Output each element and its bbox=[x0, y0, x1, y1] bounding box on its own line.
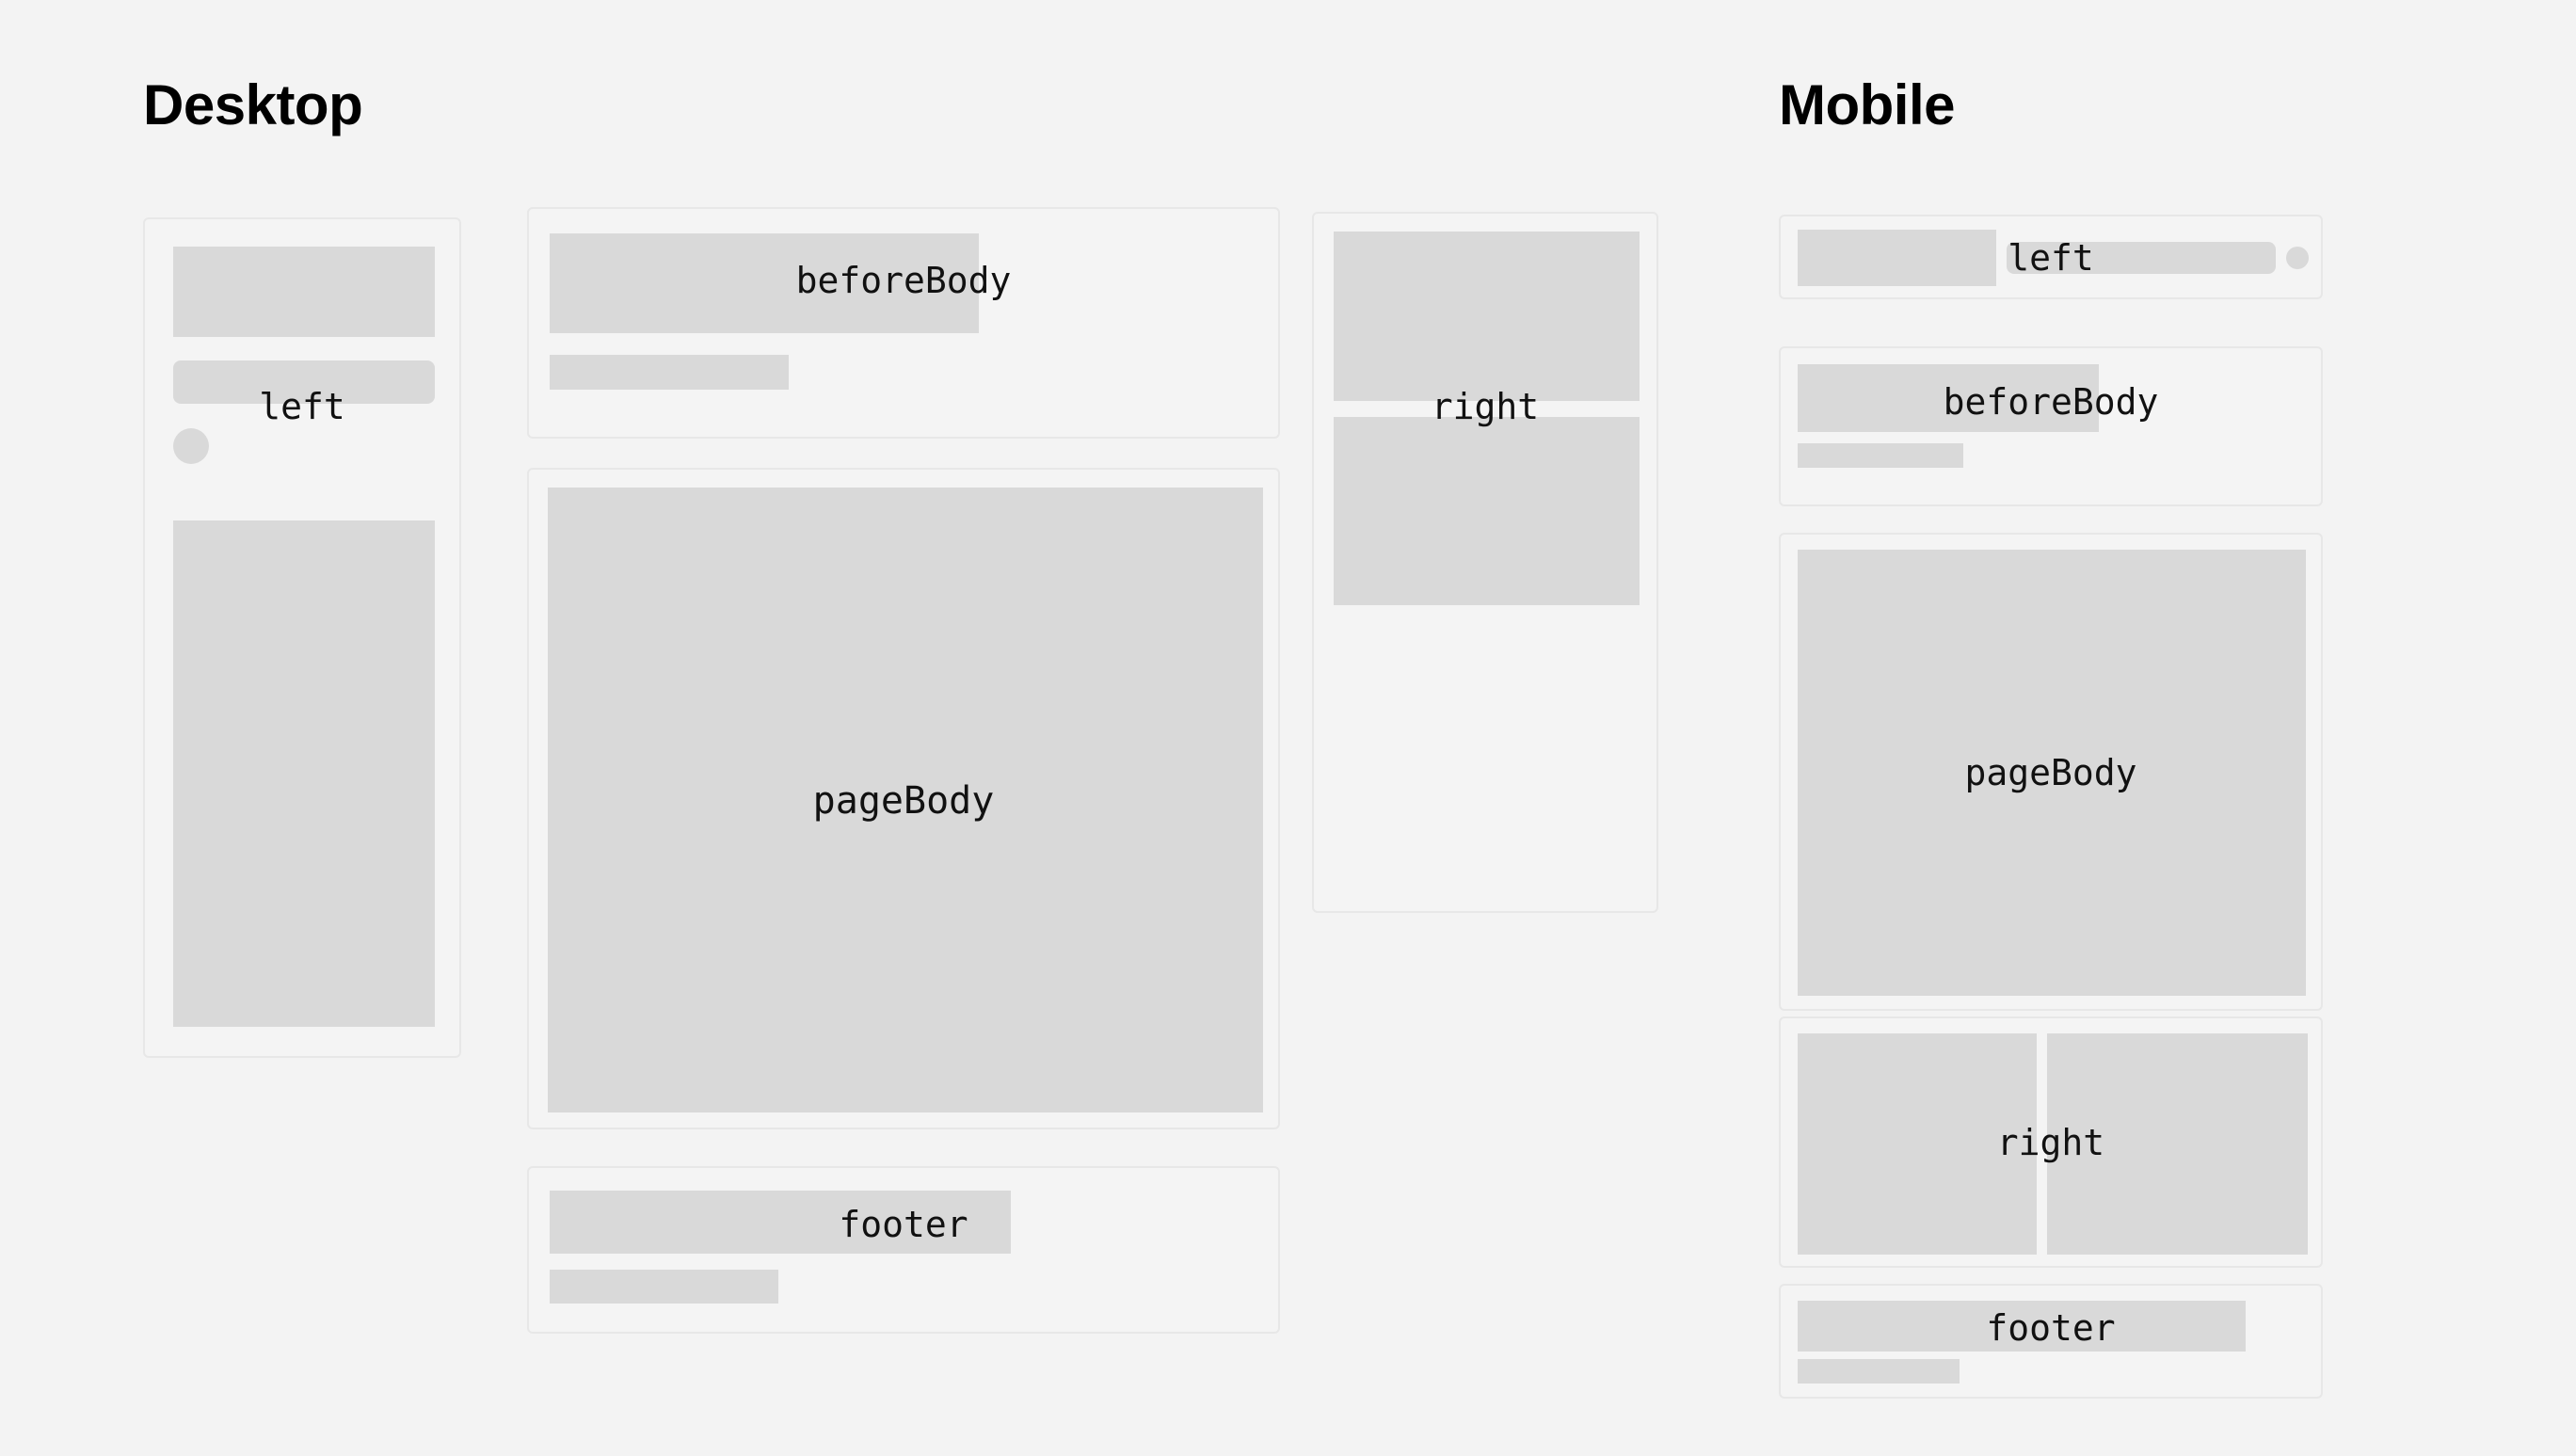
mobile-left-block bbox=[1798, 230, 1996, 286]
mobile-region-right[interactable]: right bbox=[1779, 1016, 2323, 1268]
pagebody-block bbox=[548, 488, 1263, 1112]
mobile-footer-block-wide bbox=[1798, 1301, 2246, 1352]
layout-preview-stage: Desktop left beforeBody pageBody footer … bbox=[0, 0, 2576, 1456]
sidebar-block-tall bbox=[173, 520, 435, 1027]
right-block-bottom bbox=[1334, 417, 1640, 605]
mobile-before-block-small bbox=[1798, 443, 1963, 468]
mobile-right-block-left bbox=[1798, 1033, 2037, 1255]
desktop-region-pagebody[interactable]: pageBody bbox=[527, 468, 1280, 1129]
mobile-region-pagebody[interactable]: pageBody bbox=[1779, 533, 2323, 1011]
desktop-region-left[interactable]: left bbox=[143, 217, 461, 1058]
before-block-small bbox=[550, 355, 789, 390]
mobile-region-beforebody[interactable]: beforeBody bbox=[1779, 346, 2323, 506]
mobile-before-block-wide bbox=[1798, 364, 2099, 432]
before-block-wide bbox=[550, 233, 979, 333]
mobile-left-pill bbox=[2007, 242, 2276, 274]
mobile-region-left[interactable]: left bbox=[1779, 215, 2323, 299]
desktop-region-footer[interactable]: footer bbox=[527, 1166, 1280, 1334]
mobile-right-block-right bbox=[2047, 1033, 2308, 1255]
sidebar-block-pill bbox=[173, 360, 435, 404]
mobile-section-title: Mobile bbox=[1779, 77, 1955, 134]
mobile-pagebody-block bbox=[1798, 550, 2306, 996]
sidebar-block-large bbox=[173, 247, 435, 337]
right-block-top bbox=[1334, 232, 1640, 401]
desktop-region-right[interactable]: right bbox=[1312, 212, 1658, 913]
sidebar-avatar bbox=[173, 428, 209, 464]
desktop-region-beforebody[interactable]: beforeBody bbox=[527, 207, 1280, 439]
mobile-left-avatar bbox=[2286, 247, 2309, 269]
footer-block-small bbox=[550, 1270, 778, 1304]
mobile-footer-block-small bbox=[1798, 1359, 1960, 1384]
desktop-section-title: Desktop bbox=[143, 77, 362, 134]
footer-block-wide bbox=[550, 1191, 1011, 1254]
mobile-region-footer[interactable]: footer bbox=[1779, 1284, 2323, 1399]
